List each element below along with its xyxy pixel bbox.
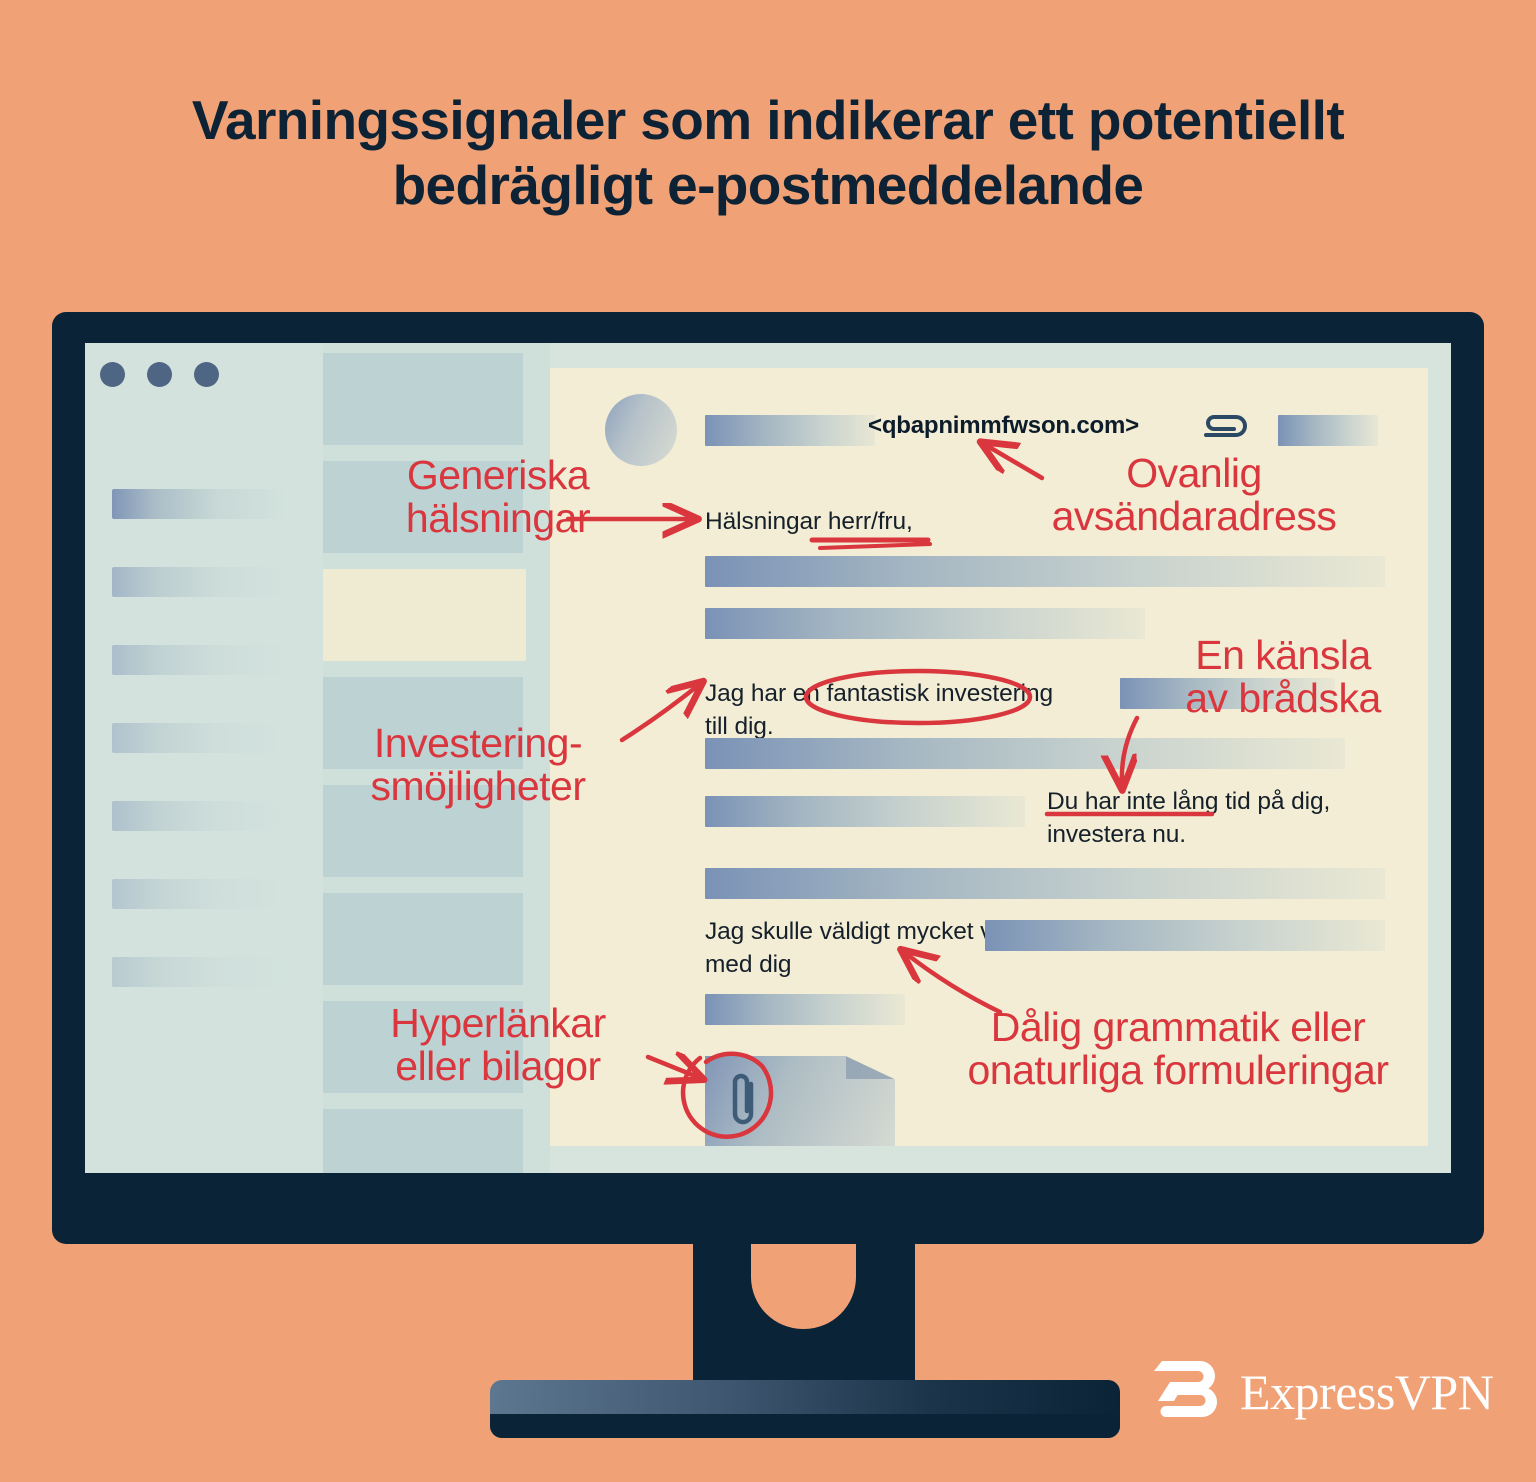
window-dot-icon[interactable]	[147, 362, 172, 387]
expressvpn-logo-icon	[1150, 1356, 1222, 1427]
list-item[interactable]	[323, 353, 523, 445]
list-item-selected[interactable]	[323, 569, 526, 661]
brand-logo: ExpressVPN	[1150, 1356, 1493, 1427]
body-placeholder	[705, 796, 1025, 827]
email-attachment[interactable]	[705, 1056, 895, 1146]
page-title: Varningssignaler som indikerar ett poten…	[0, 88, 1536, 218]
annotation-urgency: En känsla av brådska	[1118, 634, 1448, 719]
header-placeholder	[1278, 415, 1378, 446]
sidebar-item-placeholder[interactable]	[112, 645, 288, 675]
sidebar-item-placeholder[interactable]	[112, 879, 288, 909]
body-placeholder	[705, 994, 905, 1025]
window-dot-icon[interactable]	[194, 362, 219, 387]
window-dot-icon[interactable]	[100, 362, 125, 387]
body-placeholder	[705, 738, 1345, 769]
body-placeholder	[985, 920, 1385, 951]
annotation-unusual-sender: Ovanlig avsändaradress	[998, 452, 1390, 537]
sidebar-item-placeholder[interactable]	[112, 801, 288, 831]
sidebar-item-placeholder[interactable]	[112, 723, 288, 753]
brand-name: ExpressVPN	[1240, 1363, 1493, 1421]
list-item[interactable]	[323, 893, 523, 985]
monitor-base-lip	[490, 1414, 1120, 1438]
email-investment-text: Jag har en fantastisk investering till d…	[705, 678, 1105, 744]
mail-sidebar[interactable]	[85, 343, 323, 1173]
body-placeholder	[705, 556, 1385, 587]
window-controls[interactable]	[100, 362, 219, 387]
body-placeholder	[705, 608, 1145, 639]
sidebar-item-placeholder[interactable]	[112, 489, 288, 519]
annotation-hyperlinks: Hyperlänkar eller bilagor	[340, 1002, 656, 1087]
list-item[interactable]	[323, 1109, 523, 1173]
email-urgency-text: Du har inte lång tid på dig, investera n…	[1047, 786, 1387, 852]
annotation-bad-grammar: Dålig grammatik eller onaturliga formule…	[918, 1006, 1438, 1091]
annotation-generic-greeting: Generiska hälsningar	[338, 454, 658, 539]
sidebar-item-placeholder[interactable]	[112, 957, 288, 987]
annotation-investment: Investering- smöjligheter	[318, 722, 638, 807]
attachment-fold-corner	[846, 1056, 895, 1079]
sidebar-item-placeholder[interactable]	[112, 567, 288, 597]
paperclip-icon	[727, 1070, 761, 1132]
sender-address: <qbapnimmfwson.com>	[868, 412, 1139, 440]
body-placeholder	[705, 868, 1385, 899]
email-greeting: Hälsningar herr/fru,	[705, 506, 913, 539]
paperclip-icon[interactable]	[1200, 414, 1252, 446]
sender-name-placeholder	[705, 415, 875, 446]
